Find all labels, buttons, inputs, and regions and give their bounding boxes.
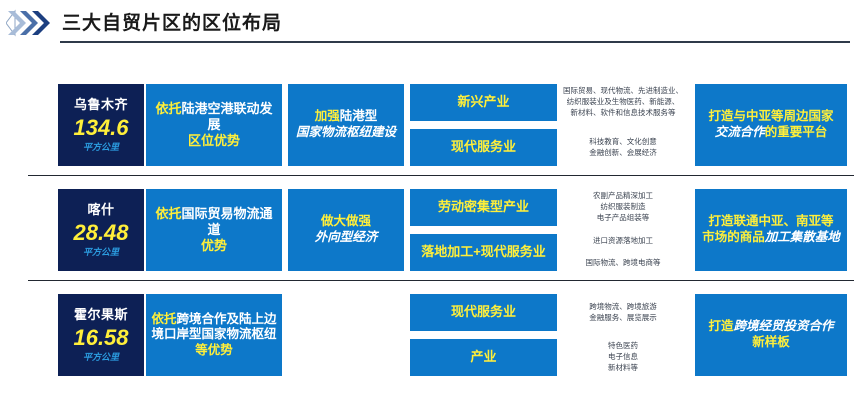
city-block[interactable]: 霍尔果斯 16.58 平方公里 bbox=[58, 294, 144, 376]
industry-tag-primary[interactable]: 现代服务业 bbox=[410, 294, 557, 331]
industry-tag-secondary[interactable]: 产业 bbox=[410, 339, 557, 376]
strategy-prefix: 加强 bbox=[315, 109, 340, 123]
city-name: 喀什 bbox=[87, 202, 114, 218]
advantage-prefix: 依托 bbox=[155, 206, 181, 221]
city-area-unit: 平方公里 bbox=[83, 142, 119, 153]
page-title: 三大自贸片区的区位布局 bbox=[62, 8, 282, 35]
industry-tag-secondary[interactable]: 现代服务业 bbox=[410, 129, 557, 166]
industry-detail-primary: 国际贸易、现代物流、先进制造业、 纺织服装业及生物医药、新能源、 新材料、软件和… bbox=[560, 84, 686, 121]
goal-part3: 市场的商品 bbox=[702, 230, 765, 244]
industry-detail-secondary: 科技教育、文化创意 金融创新、会展经济 bbox=[560, 129, 686, 166]
advantage-suffix: 等优势 bbox=[195, 343, 233, 357]
strategy-mid: 陆港型 bbox=[340, 109, 378, 123]
city-area-unit: 平方公里 bbox=[83, 352, 119, 363]
city-area-value: 16.58 bbox=[73, 324, 128, 352]
advantage-panel[interactable]: 依托陆港空港联动发展 区位优势 bbox=[146, 84, 282, 166]
region-row-kashgar: 喀什 28.48 平方公里 依托国际贸易物流通道 优势 做大做强 外向型经济 劳… bbox=[0, 181, 856, 281]
goal-part3: 新样板 bbox=[708, 335, 833, 351]
strategy-panel[interactable]: 加强陆港型 国家物流枢纽建设 bbox=[288, 84, 404, 166]
goal-panel[interactable]: 打造联通中亚、南亚等 市场的商品加工集散基地 bbox=[695, 189, 847, 271]
goal-panel[interactable]: 打造与中亚等周边国家 交流合作的重要平台 bbox=[695, 84, 847, 166]
goal-part1: 打造联通中亚、南亚等 bbox=[702, 214, 840, 230]
strategy-prefix: 做大做强 bbox=[315, 214, 378, 230]
region-row-urumqi: 乌鲁木齐 134.6 平方公里 依托陆港空港联动发展 区位优势 加强陆港型 国家… bbox=[0, 76, 856, 176]
header-divider bbox=[60, 41, 850, 43]
advantage-suffix: 优势 bbox=[150, 238, 278, 254]
advantage-main: 陆港空港联动发展 bbox=[182, 101, 273, 132]
city-area-value: 28.48 bbox=[73, 219, 128, 247]
city-area-value: 134.6 bbox=[73, 114, 128, 142]
advantage-prefix: 依托 bbox=[151, 312, 176, 326]
advantage-panel[interactable]: 依托跨境合作及陆上边境口岸型国家物流枢纽等优势 bbox=[146, 294, 282, 376]
industry-tag-secondary[interactable]: 落地加工+现代服务业 bbox=[410, 234, 557, 271]
strategy-panel[interactable]: 做大做强 外向型经济 bbox=[288, 189, 404, 271]
accent-bar-primary bbox=[548, 84, 557, 121]
industry-detail-secondary: 进口资源落地加工 国际物流、跨境电商等 bbox=[560, 234, 686, 271]
city-name: 乌鲁木齐 bbox=[74, 97, 128, 113]
city-block[interactable]: 喀什 28.48 平方公里 bbox=[58, 189, 144, 271]
city-block[interactable]: 乌鲁木齐 134.6 平方公里 bbox=[58, 84, 144, 166]
goal-panel[interactable]: 打造跨境经贸投资合作 新样板 bbox=[695, 294, 847, 376]
strategy-suffix: 国家物流枢纽建设 bbox=[296, 125, 396, 141]
row-divider bbox=[28, 175, 854, 176]
advantage-prefix: 依托 bbox=[155, 101, 181, 116]
goal-part3: 的重要平台 bbox=[765, 125, 828, 139]
advantage-suffix: 区位优势 bbox=[150, 133, 278, 149]
region-row-khorgos: 霍尔果斯 16.58 平方公里 依托跨境合作及陆上边境口岸型国家物流枢纽等优势 … bbox=[0, 286, 856, 386]
industry-detail-secondary: 特色医药 电子信息 新材料等 bbox=[560, 339, 686, 376]
city-area-unit: 平方公里 bbox=[83, 247, 119, 258]
industry-detail-primary: 农副产品精深加工 纺织服装制造 电子产品组装等 bbox=[560, 189, 686, 226]
accent-bar-secondary bbox=[548, 129, 557, 166]
industry-detail-primary: 跨境物流、跨境旅游 金融服务、展览展示 bbox=[560, 294, 686, 331]
row-divider bbox=[28, 280, 854, 281]
strategy-suffix: 外向型经济 bbox=[315, 230, 378, 246]
goal-part4: 加工集散基地 bbox=[765, 230, 840, 244]
goal-part1: 打造 bbox=[708, 319, 733, 333]
industry-tag-primary[interactable]: 劳动密集型产业 bbox=[410, 189, 557, 226]
goal-part2: 跨境经贸投资合作 bbox=[734, 319, 834, 333]
double-chevron-right-icon bbox=[6, 8, 62, 38]
industry-tag-primary[interactable]: 新兴产业 bbox=[410, 84, 557, 121]
advantage-main: 国际贸易物流通道 bbox=[182, 206, 273, 237]
advantage-panel[interactable]: 依托国际贸易物流通道 优势 bbox=[146, 189, 282, 271]
goal-part2: 交流合作 bbox=[715, 125, 765, 139]
city-name: 霍尔果斯 bbox=[74, 307, 128, 323]
goal-part1: 打造与中亚等周边国家 bbox=[708, 109, 833, 125]
page-header: 三大自贸片区的区位布局 bbox=[0, 0, 856, 56]
strategy-panel-empty bbox=[288, 294, 404, 376]
